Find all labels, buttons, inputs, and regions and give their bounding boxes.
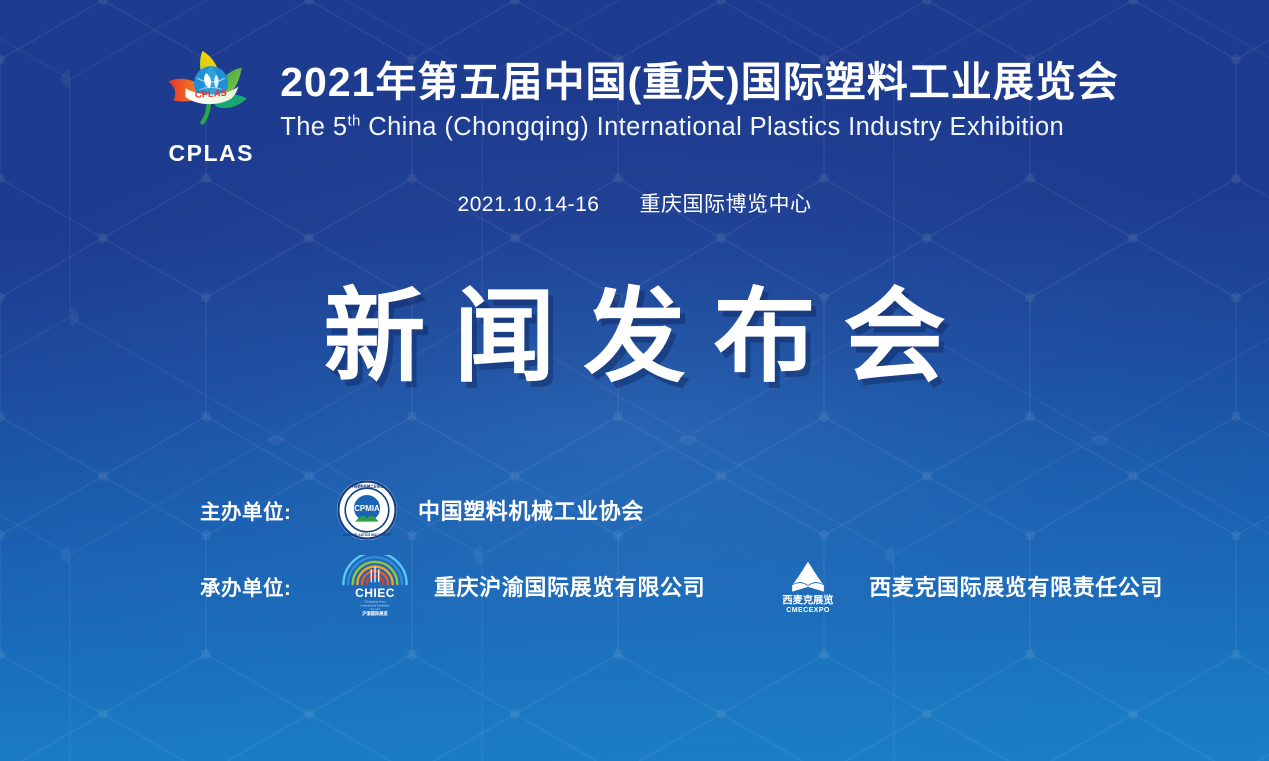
brand-lockup: CPLAS CPLAS (150, 44, 272, 167)
event-venue: 重庆国际博览中心 (639, 193, 811, 216)
organiser-name-cpmia: 中国塑料机械工业协会 (418, 494, 644, 526)
title-block: 2021年第五届中国(重庆)国际塑料工业展览会 The 5th China (C… (280, 44, 1119, 143)
cmecexpo-logo-box: 西麦克展览 CMECEXPO (767, 555, 849, 617)
organiser-label-host: 主办单位: (200, 495, 336, 525)
svg-text:CHINA PLASTICS MACHINERY: CHINA PLASTICS MACHINERY (343, 533, 392, 537)
svg-text:CHIEC: CHIEC (355, 586, 395, 600)
svg-text:西麦克展览: 西麦克展览 (783, 594, 834, 607)
organiser-entry-cmecexpo: 西麦克展览 CMECEXPO 西麦克国际展览有限责任公司 (767, 555, 1163, 617)
organiser-name-chiec: 重庆沪渝国际展览有限公司 (434, 570, 705, 602)
svg-text:CPMIA: CPMIA (354, 504, 380, 513)
event-date: 2021.10.14-16 (458, 193, 600, 216)
exhibition-title-en: The 5th China (Chongqing) International … (280, 112, 1119, 143)
chiec-logo-box: CHIEC Chongqing Huyu International Exhib… (336, 555, 414, 617)
organiser-entry-chiec: CHIEC Chongqing Huyu International Exhib… (336, 555, 705, 617)
exhibition-title-cn: 2021年第五届中国(重庆)国际塑料工业展览会 (280, 58, 1119, 106)
poster-header: CPLAS CPLAS 2021年第五届中国(重庆)国际塑料工业展览会 The … (0, 44, 1269, 167)
organiser-entry-cpmia: CPMIA 中国塑料机械工业协会 CHINA PLASTICS MACHINER… (336, 479, 644, 541)
organiser-label-coorganiser: 承办单位: (200, 571, 336, 601)
cpmia-circular-seal-icon: CPMIA 中国塑料机械工业协会 CHINA PLASTICS MACHINER… (336, 479, 398, 541)
title-en-prefix: The 5 (280, 113, 347, 141)
svg-text:沪渝国际展览: 沪渝国际展览 (362, 610, 388, 617)
event-meta: 2021.10.14-16重庆国际博览中心 (0, 188, 1269, 218)
organiser-section: 主办单位: CPMIA 中国塑料机械工业协会 CHINA PLASTICS MA… (200, 477, 1180, 619)
headline-press-conference: 新闻发布会 (0, 284, 1269, 391)
cpmia-logo-box: CPMIA 中国塑料机械工业协会 CHINA PLASTICS MACHINER… (336, 479, 398, 541)
cplas-leaf-globe-icon: CPLAS (159, 44, 263, 136)
brand-wordmark: CPLAS (169, 140, 254, 167)
cmecexpo-mountain-icon: 西麦克展览 CMECEXPO (767, 555, 849, 617)
chiec-rainbow-arc-icon: CHIEC Chongqing Huyu International Exhib… (336, 555, 414, 617)
title-en-ordinal: th (347, 113, 360, 130)
title-en-rest: China (Chongqing) International Plastics… (361, 113, 1064, 141)
svg-text:CMECEXPO: CMECEXPO (786, 606, 830, 614)
organiser-name-cmecexpo: 西麦克国际展览有限责任公司 (869, 570, 1163, 602)
svg-text:中国塑料机械工业协会: 中国塑料机械工业协会 (351, 484, 385, 489)
organiser-row-coorganiser: 承办单位: (200, 553, 1180, 619)
organiser-row-host: 主办单位: CPMIA 中国塑料机械工业协会 CHINA PLASTICS MA… (200, 477, 1180, 543)
poster-canvas: CPLAS CPLAS 2021年第五届中国(重庆)国际塑料工业展览会 The … (0, 0, 1269, 761)
